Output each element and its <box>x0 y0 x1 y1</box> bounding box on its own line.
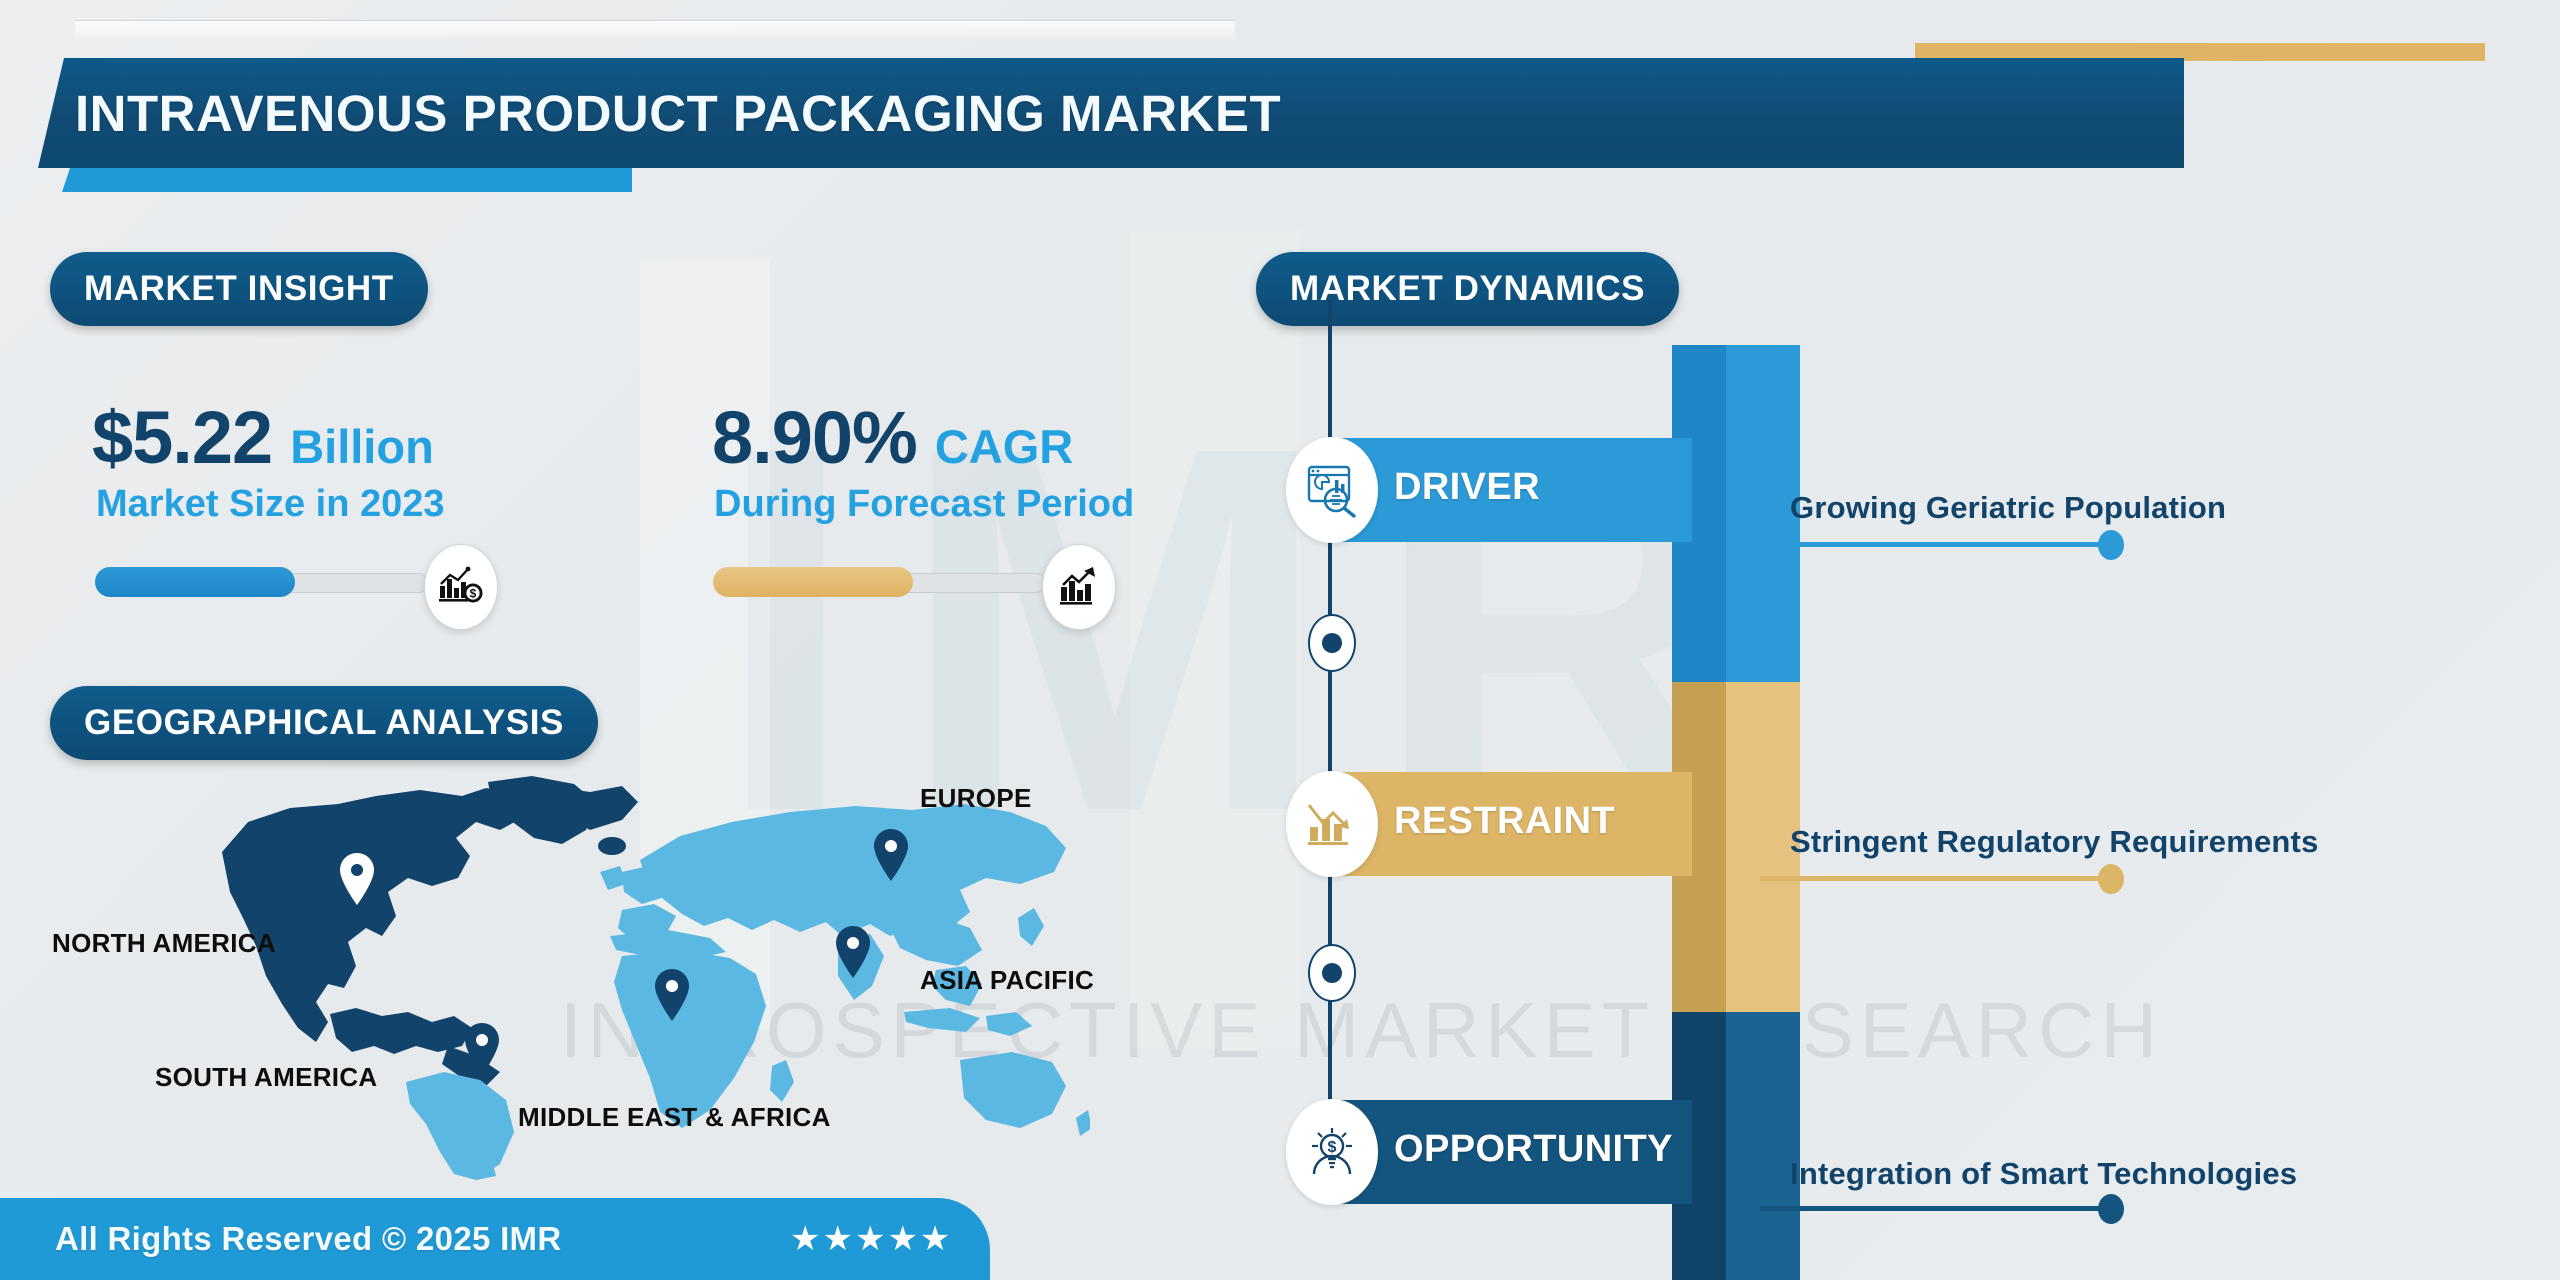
metric-1-progress-track <box>96 573 428 593</box>
metric-2-progress-fill <box>713 567 913 597</box>
opportunity-callout-dot <box>2098 1194 2124 1224</box>
timeline-node-2 <box>1308 944 1356 1002</box>
opportunity-icon-badge: $ <box>1286 1099 1378 1205</box>
header-top-shadow <box>75 20 1235 41</box>
driver-callout-dot <box>2098 530 2124 560</box>
metric-2-value: 8.90% <box>712 395 917 480</box>
region-label-europe: EUROPE <box>920 783 1032 814</box>
rating-stars: ★★★★★ <box>790 1219 952 1259</box>
lightbulb-dollar-icon: $ <box>1304 1124 1360 1180</box>
opportunity-label: OPPORTUNITY <box>1394 1128 1673 1171</box>
driver-callout-text: Growing Geriatric Population <box>1790 490 2226 526</box>
region-label-south-america: SOUTH AMERICA <box>155 1062 378 1093</box>
growth-arrow-icon <box>1057 565 1101 609</box>
declining-chart-icon <box>1305 797 1359 851</box>
metric-2-icon-bubble <box>1042 544 1116 630</box>
market-dynamics-heading: MARKET DYNAMICS <box>1256 252 1679 326</box>
report-search-icon <box>1304 462 1360 518</box>
metric-1-value: $5.22 <box>92 395 272 480</box>
map-pin-asia-pacific <box>834 925 872 979</box>
driver-callout-line <box>1760 542 2110 547</box>
svg-text:$: $ <box>1328 1139 1337 1156</box>
driver-label: DRIVER <box>1394 466 1540 509</box>
metric-1-progress-fill <box>95 567 295 597</box>
metric-1-icon-bubble: $ <box>424 544 498 630</box>
timeline-node-1 <box>1308 614 1356 672</box>
restraint-callout-dot <box>2098 864 2124 894</box>
opportunity-callout-line <box>1760 1206 2110 1211</box>
region-label-north-america: NORTH AMERICA <box>52 928 276 959</box>
metric-2-progress-track <box>714 573 1046 593</box>
map-pin-europe <box>872 828 910 882</box>
metric-1-caption: Market Size in 2023 <box>96 483 445 526</box>
metric-2-unit: CAGR <box>935 419 1073 474</box>
metric-1-unit: Billion <box>290 419 434 474</box>
geographical-analysis-heading: GEOGRAPHICAL ANALYSIS <box>50 686 598 760</box>
market-insight-heading: MARKET INSIGHT <box>50 252 428 326</box>
bar-chart-dollar-icon: $ <box>438 566 484 608</box>
restraint-label: RESTRAINT <box>1394 800 1615 843</box>
region-label-asia-pacific: ASIA PACIFIC <box>920 965 1094 996</box>
infographic-canvas: IMR INTROSPECTIVE MARKET RESEARCH INTRAV… <box>0 0 2560 1280</box>
restraint-callout-line <box>1760 876 2110 881</box>
page-title: INTRAVENOUS PRODUCT PACKAGING MARKET <box>75 58 1281 168</box>
metric-1-value-group: $5.22 Billion <box>92 395 434 480</box>
driver-icon-badge <box>1286 437 1378 543</box>
metric-2-value-group: 8.90% CAGR <box>712 395 1073 480</box>
map-pin-north-america <box>338 852 376 906</box>
header-blue-accent <box>62 168 632 192</box>
footer-bar: All Rights Reserved © 2025 IMR ★★★★★ <box>0 1198 990 1280</box>
dynamics-timeline-spine <box>1328 300 1332 1180</box>
copyright-text: All Rights Reserved © 2025 IMR <box>55 1220 561 1258</box>
metric-2-caption: During Forecast Period <box>714 483 1134 526</box>
map-pin-south-america <box>463 1022 501 1076</box>
opportunity-callout-text: Integration of Smart Technologies <box>1790 1156 2297 1192</box>
region-label-middle-east-africa: MIDDLE EAST & AFRICA <box>518 1102 831 1133</box>
restraint-icon-badge <box>1286 771 1378 877</box>
svg-text:$: $ <box>470 587 477 601</box>
restraint-callout-text: Stringent Regulatory Requirements <box>1790 824 2319 860</box>
map-pin-middle-east-africa <box>653 968 691 1022</box>
